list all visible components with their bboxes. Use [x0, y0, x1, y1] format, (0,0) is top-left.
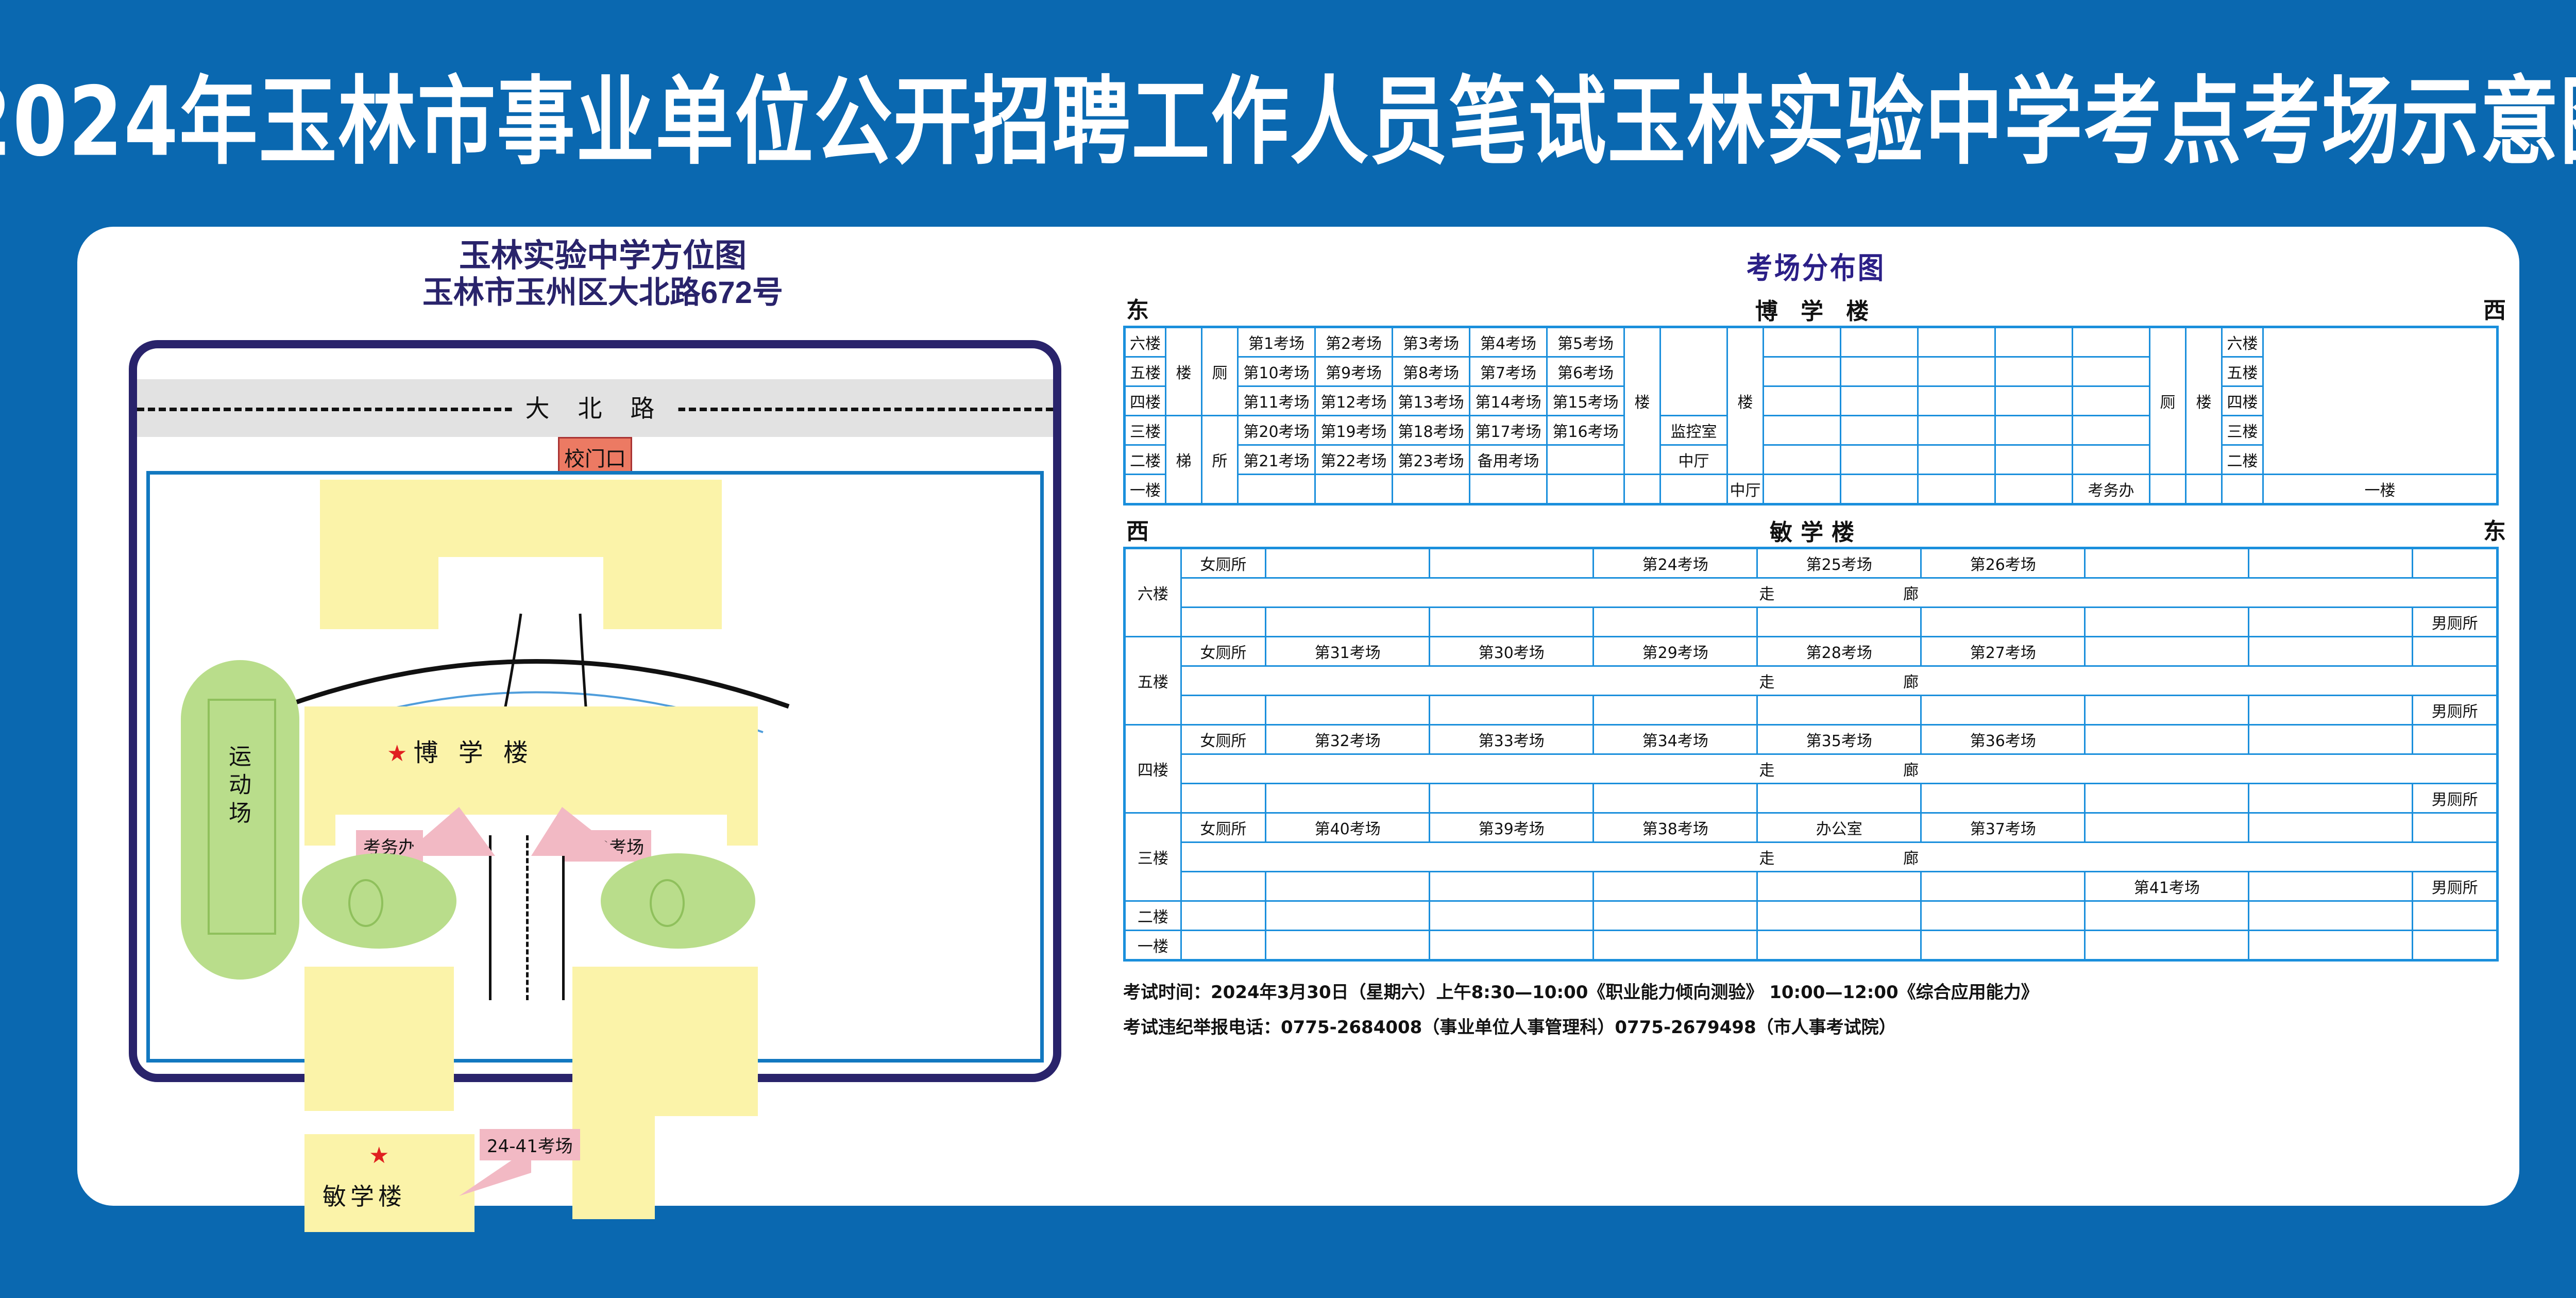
minxue-cell — [1266, 901, 1430, 931]
boxue-stair-left-bot: 梯 — [1166, 416, 1202, 504]
minxue-cell — [1266, 696, 1430, 725]
minxue-cell — [1430, 608, 1594, 637]
boxue-room: 第18考场 — [1393, 416, 1470, 445]
minxue-cell — [2085, 696, 2249, 725]
boxue-stair-right: 楼 — [2186, 327, 2222, 475]
boxue-cell — [1764, 445, 1841, 475]
minxue-cell — [1430, 872, 1594, 901]
table-row: 四楼 第11考场 第12考场 第13考场 第14考场 第15考场 四楼 — [1125, 386, 2498, 416]
minxue-cell — [2413, 931, 2498, 960]
minxue-table: 六楼 女厕所 第24考场 第25考场 第26考场 走 廊 — [1123, 547, 2499, 962]
minxue-room: 第29考场 — [1594, 637, 1757, 666]
boxue-cell — [1841, 416, 1918, 445]
minxue-cell — [1921, 784, 2085, 813]
building-boxue-wing-l — [304, 815, 335, 846]
minxue-cell — [1757, 901, 1921, 931]
boxue-floor-label-l-0: 六楼 — [1125, 327, 1166, 357]
boxue-floor-label-r-5: 一楼 — [2263, 475, 2498, 504]
boxue-cell — [1841, 445, 1918, 475]
minxue-corridor: 走 廊 — [1181, 578, 2497, 608]
minxue-direction-row: 西 敏学楼 东 — [1123, 513, 2509, 547]
orientation-map-panel: 玉林实验中学方位图 玉林市玉州区大北路672号 大 北 路 校门口 — [93, 237, 1113, 1195]
boxue-cell — [1315, 475, 1393, 504]
boxue-cell — [1238, 475, 1315, 504]
minxue-room: 第26考场 — [1921, 548, 2085, 578]
minxue-cell — [1757, 608, 1921, 637]
boxue-floor-label-r-4: 二楼 — [2222, 445, 2263, 475]
boxue-cell — [2073, 386, 2150, 416]
minxue-cell — [2085, 813, 2249, 842]
minxue-cell — [2085, 784, 2249, 813]
boxue-cell — [1764, 327, 1841, 357]
boxue-cell — [2073, 445, 2150, 475]
minxue-cell — [1594, 608, 1757, 637]
boxue-room: 第23考场 — [1393, 445, 1470, 475]
star-icon-boxue: ★ — [387, 740, 413, 767]
boxue-cell — [1995, 416, 2073, 445]
table-row: 一楼 中厅 考务办 一楼 — [1125, 475, 2498, 504]
boxue-cell — [1918, 357, 1995, 386]
minxue-cell — [1757, 784, 1921, 813]
boxue-cell — [1660, 475, 1727, 504]
minxue-cell — [1430, 784, 1594, 813]
minxue-room: 第31考场 — [1266, 637, 1430, 666]
minxue-room: 第33考场 — [1430, 725, 1594, 754]
minxue-floor-label-2: 四楼 — [1125, 725, 1181, 813]
minxue-cell — [1181, 931, 1266, 960]
boxue-building-name: 博 学 楼 — [1755, 293, 1877, 326]
boxue-cell — [1995, 386, 2073, 416]
boxue-cell — [1995, 327, 2073, 357]
table-row: 六楼 女厕所 第24考场 第25考场 第26考场 — [1125, 548, 2498, 578]
boxue-cell — [1764, 386, 1841, 416]
boxue-room: 第4考场 — [1470, 327, 1547, 357]
boxue-direction-row: 东 博 学 楼 西 — [1123, 292, 2509, 326]
minxue-cell — [1181, 784, 1266, 813]
minxue-corridor: 走 廊 — [1181, 754, 2497, 784]
minxue-cell — [2249, 872, 2413, 901]
minxue-cell — [1757, 872, 1921, 901]
boxue-cell — [1918, 445, 1995, 475]
minxue-wc-female: 女厕所 — [1181, 548, 1266, 578]
minxue-wc-male: 男厕所 — [2413, 608, 2498, 637]
minxue-room: 第27考场 — [1921, 637, 2085, 666]
table-row: 五楼 女厕所 第31考场 第30考场 第29考场 第28考场 第27考场 — [1125, 637, 2498, 666]
boxue-floor-label-l-4: 二楼 — [1125, 445, 1166, 475]
boxue-cell — [1918, 386, 1995, 416]
table-row: 走 廊 — [1125, 578, 2498, 608]
minxue-cell — [2249, 901, 2413, 931]
minxue-cell — [1181, 608, 1266, 637]
boxue-cell — [1764, 475, 1841, 504]
sports-field-label: 运动场 — [222, 743, 258, 828]
minxue-cell — [1181, 696, 1266, 725]
star-icon-minxue-wrap: ★ — [369, 1144, 389, 1167]
boxue-exam-office: 考务办 — [2073, 475, 2150, 504]
minxue-building-name: 敏学楼 — [1770, 514, 1862, 547]
boxue-floor-label-r-0: 六楼 — [2222, 327, 2263, 357]
boxue-cell — [1841, 357, 1918, 386]
minxue-cell — [2249, 548, 2413, 578]
boxue-direction-right: 西 — [2483, 292, 2506, 325]
minxue-room: 第37考场 — [1921, 813, 2085, 842]
building-lower-right-top — [572, 967, 758, 1116]
minxue-cell — [1757, 696, 1921, 725]
table-row: 一楼 — [1125, 931, 2498, 960]
boxue-floor-label-r-1: 五楼 — [2222, 357, 2263, 386]
minxue-cell — [1181, 901, 1266, 931]
boxue-cell — [2150, 475, 2186, 504]
minxue-corridor: 走 廊 — [1181, 666, 2497, 696]
boxue-wc-right: 厕 — [2150, 327, 2186, 475]
boxue-wc-left-bot: 所 — [1202, 416, 1238, 504]
minxue-cell — [1430, 548, 1594, 578]
boxue-cell — [1995, 357, 2073, 386]
boxue-cell — [1841, 475, 1918, 504]
minxue-cell — [2085, 931, 2249, 960]
table-row: 走 廊 — [1125, 666, 2498, 696]
boxue-cell — [1841, 327, 1918, 357]
boxue-floor-label-l-2: 四楼 — [1125, 386, 1166, 416]
boxue-cell — [1764, 416, 1841, 445]
boxue-cell — [2073, 416, 2150, 445]
minxue-wc-female: 女厕所 — [1181, 725, 1266, 754]
boxue-room: 第14考场 — [1470, 386, 1547, 416]
minxue-cell — [1266, 931, 1430, 960]
minxue-cell — [2085, 548, 2249, 578]
page-title: 2024年玉林市事业单位公开招聘工作人员笔试玉林实验中学考点考场示意图 — [0, 44, 2576, 182]
minxue-room: 第30考场 — [1430, 637, 1594, 666]
page-banner: 2024年玉林市事业单位公开招聘工作人员笔试玉林实验中学考点考场示意图 — [0, 0, 2576, 227]
table-row: 六楼 楼 厕 第1考场 第2考场 第3考场 第4考场 第5考场 楼 楼 — [1125, 327, 2498, 357]
boxue-cell — [2222, 475, 2263, 504]
minxue-cell — [1430, 901, 1594, 931]
minxue-direction-left: 西 — [1126, 513, 1149, 546]
minxue-cell — [2413, 813, 2498, 842]
boxue-wc-left-top: 厕 — [1202, 327, 1238, 416]
minxue-room: 第35考场 — [1757, 725, 1921, 754]
boxue-room: 备用考场 — [1470, 445, 1547, 475]
boxue-floor-label-l-1: 五楼 — [1125, 357, 1166, 386]
building-boxue-label-wrap: ★博 学 楼 — [387, 732, 534, 768]
distribution-title: 考场分布图 — [1123, 245, 2509, 288]
building-front-mid — [438, 480, 603, 557]
minxue-cell — [2085, 608, 2249, 637]
boxue-hall: 中厅 — [1660, 445, 1727, 475]
minxue-cell — [2249, 725, 2413, 754]
minxue-room: 第39考场 — [1430, 813, 1594, 842]
minxue-cell — [1430, 696, 1594, 725]
minxue-cell — [1594, 901, 1757, 931]
minxue-cell — [1921, 696, 2085, 725]
boxue-floor-label-r-2: 四楼 — [2222, 386, 2263, 416]
minxue-cell — [2249, 608, 2413, 637]
minxue-room: 第28考场 — [1757, 637, 1921, 666]
table-row: 二楼 第21考场 第22考场 第23考场 备用考场 中厅 二楼 — [1125, 445, 2498, 475]
building-minxue-label: 敏学楼 — [323, 1178, 406, 1212]
minxue-room: 第38考场 — [1594, 813, 1757, 842]
minxue-cell — [1430, 931, 1594, 960]
boxue-room: 第2考场 — [1315, 327, 1393, 357]
minxue-cell — [2413, 725, 2498, 754]
boxue-floor-label-l-5: 一楼 — [1125, 475, 1166, 504]
boxue-room: 第13考场 — [1393, 386, 1470, 416]
boxue-stair-mid-b: 楼 — [1727, 327, 1764, 475]
boxue-stair-mid-a: 楼 — [1624, 327, 1660, 475]
minxue-floor-label-1: 五楼 — [1125, 637, 1181, 725]
table-row: 走 廊 — [1125, 842, 2498, 872]
minxue-cell — [2249, 931, 2413, 960]
path-center-dash — [526, 835, 529, 1000]
minxue-cell — [1181, 872, 1266, 901]
minxue-wc-female: 女厕所 — [1181, 637, 1266, 666]
boxue-mid-empty — [1660, 327, 1727, 416]
boxue-room: 第11考场 — [1238, 386, 1315, 416]
star-icon-minxue: ★ — [369, 1142, 389, 1169]
boxue-room: 第6考场 — [1547, 357, 1624, 386]
footer-notes: 考试时间：2024年3月30日（星期六）上午8:30—10:00《职业能力倾向测… — [1123, 975, 2509, 1045]
minxue-office: 办公室 — [1757, 813, 1921, 842]
minxue-room: 第36考场 — [1921, 725, 2085, 754]
map-heading-line1: 玉林实验中学方位图 — [93, 237, 1113, 275]
building-lower-right-bottom — [572, 1116, 655, 1219]
minxue-corridor: 走 廊 — [1181, 842, 2497, 872]
minxue-floor-label-5: 一楼 — [1125, 931, 1181, 960]
minxue-room: 第41考场 — [2085, 872, 2249, 901]
boxue-table: 六楼 楼 厕 第1考场 第2考场 第3考场 第4考场 第5考场 楼 楼 — [1123, 326, 2499, 505]
table-row: 男厕所 — [1125, 696, 2498, 725]
boxue-cell — [1547, 475, 1624, 504]
campus-area: ★博 学 楼 考务办 1-23考场 运动场 — [146, 471, 1044, 1063]
minxue-cell — [1757, 931, 1921, 960]
minxue-cell — [1921, 872, 2085, 901]
minxue-floor-label-0: 六楼 — [1125, 548, 1181, 637]
building-boxue-label: 博 学 楼 — [413, 738, 534, 767]
boxue-cell — [2073, 357, 2150, 386]
map-frame: 大 北 路 校门口 — [129, 340, 1061, 1082]
minxue-room: 第32考场 — [1266, 725, 1430, 754]
table-row: 五楼 第10考场 第9考场 第8考场 第7考场 第6考场 五楼 — [1125, 357, 2498, 386]
boxue-cell — [1918, 416, 1995, 445]
minxue-floor-label-3: 三楼 — [1125, 813, 1181, 901]
boxue-cell — [1764, 357, 1841, 386]
minxue-wc-male: 男厕所 — [2413, 696, 2498, 725]
boxue-cell — [1547, 445, 1624, 475]
table-row: 男厕所 — [1125, 608, 2498, 637]
road-label: 大 北 路 — [512, 389, 679, 424]
boxue-cell — [1624, 475, 1660, 504]
boxue-cell — [1995, 445, 2073, 475]
minxue-direction-right: 东 — [2483, 513, 2506, 546]
boxue-room: 第10考场 — [1238, 357, 1315, 386]
map-heading-line2: 玉林市玉州区大北路672号 — [93, 275, 1113, 311]
boxue-cell — [2073, 327, 2150, 357]
minxue-room: 第34考场 — [1594, 725, 1757, 754]
minxue-cell — [2249, 696, 2413, 725]
table-row: 四楼 女厕所 第32考场 第33考场 第34考场 第35考场 第36考场 — [1125, 725, 2498, 754]
footer-exam-time: 考试时间：2024年3月30日（星期六）上午8:30—10:00《职业能力倾向测… — [1123, 975, 2509, 1010]
table-row: 二楼 — [1125, 901, 2498, 931]
content-card: 玉林实验中学方位图 玉林市玉州区大北路672号 大 北 路 校门口 — [77, 227, 2519, 1206]
boxue-room: 第17考场 — [1470, 416, 1547, 445]
boxue-room: 第19考场 — [1315, 416, 1393, 445]
table-row: 三楼 梯 所 第20考场 第19考场 第18考场 第17考场 第16考场 监控室… — [1125, 416, 2498, 445]
boxue-stair-left-top: 楼 — [1166, 327, 1202, 416]
boxue-room: 第20考场 — [1238, 416, 1315, 445]
minxue-cell — [1266, 784, 1430, 813]
boxue-cell — [1841, 386, 1918, 416]
boxue-cell — [1918, 327, 1995, 357]
map-heading: 玉林实验中学方位图 玉林市玉州区大北路672号 — [93, 237, 1113, 311]
minxue-cell — [2085, 637, 2249, 666]
boxue-room: 第21考场 — [1238, 445, 1315, 475]
minxue-cell — [1921, 608, 2085, 637]
minxue-cell — [1921, 931, 2085, 960]
minxue-cell — [1266, 872, 1430, 901]
minxue-cell — [1594, 872, 1757, 901]
boxue-direction-left: 东 — [1126, 292, 1149, 325]
table-row: 走 廊 — [1125, 754, 2498, 784]
table-row: 男厕所 — [1125, 784, 2498, 813]
boxue-room: 第12考场 — [1315, 386, 1393, 416]
boxue-hall-1f: 中厅 — [1727, 475, 1764, 504]
minxue-room: 第25考场 — [1757, 548, 1921, 578]
minxue-cell — [2249, 637, 2413, 666]
exam-distribution-panel: 考场分布图 东 博 学 楼 西 六楼 楼 厕 第1考场 第2考场 — [1123, 237, 2509, 1195]
boxue-cell — [1995, 475, 2073, 504]
minxue-room: 第40考场 — [1266, 813, 1430, 842]
minxue-cell — [2249, 784, 2413, 813]
boxue-room: 第1考场 — [1238, 327, 1315, 357]
callout-tail-24-41 — [454, 1144, 536, 1206]
minxue-cell — [1594, 784, 1757, 813]
garden-left-inner — [348, 879, 383, 927]
callout-tail-exam-office — [341, 804, 495, 861]
minxue-cell — [1594, 931, 1757, 960]
boxue-room: 第16考场 — [1547, 416, 1624, 445]
minxue-cell — [2085, 725, 2249, 754]
boxue-room: 第5考场 — [1547, 327, 1624, 357]
boxue-monitor-room: 监控室 — [1660, 416, 1727, 445]
minxue-wc-female: 女厕所 — [1181, 813, 1266, 842]
boxue-room: 第8考场 — [1393, 357, 1470, 386]
table-row: 第41考场 男厕所 — [1125, 872, 2498, 901]
minxue-cell — [2413, 901, 2498, 931]
minxue-cell — [1921, 901, 2085, 931]
boxue-room: 第3考场 — [1393, 327, 1470, 357]
minxue-cell — [2413, 548, 2498, 578]
table-row: 三楼 女厕所 第40考场 第39考场 第38考场 办公室 第37考场 — [1125, 813, 2498, 842]
minxue-cell — [1266, 548, 1430, 578]
minxue-cell — [2085, 901, 2249, 931]
road-strip: 大 北 路 — [137, 379, 1053, 437]
building-boxue-wing-r — [727, 815, 758, 846]
minxue-floor-label-4: 二楼 — [1125, 901, 1181, 931]
minxue-wc-male: 男厕所 — [2413, 872, 2498, 901]
minxue-cell — [2249, 813, 2413, 842]
footer-report-phone: 考试违纪举报电话：0775-2684008（事业单位人事管理科）0775-267… — [1123, 1010, 2509, 1045]
boxue-floor-label-r-3: 三楼 — [2222, 416, 2263, 445]
boxue-cell — [1918, 475, 1995, 504]
boxue-room: 第9考场 — [1315, 357, 1393, 386]
minxue-cell — [1594, 696, 1757, 725]
building-lower-left — [304, 967, 454, 1111]
boxue-cell — [2186, 475, 2222, 504]
boxue-room: 第7考场 — [1470, 357, 1547, 386]
minxue-cell — [1266, 608, 1430, 637]
boxue-room: 第22考场 — [1315, 445, 1393, 475]
callout-tail-rooms-1-23 — [531, 804, 686, 861]
minxue-room: 第24考场 — [1594, 548, 1757, 578]
boxue-cell — [1470, 475, 1547, 504]
minxue-wc-male: 男厕所 — [2413, 784, 2498, 813]
garden-right-inner — [650, 879, 685, 927]
minxue-cell — [2413, 637, 2498, 666]
boxue-cell — [1393, 475, 1470, 504]
boxue-room: 第15考场 — [1547, 386, 1624, 416]
boxue-floor-label-l-3: 三楼 — [1125, 416, 1166, 445]
